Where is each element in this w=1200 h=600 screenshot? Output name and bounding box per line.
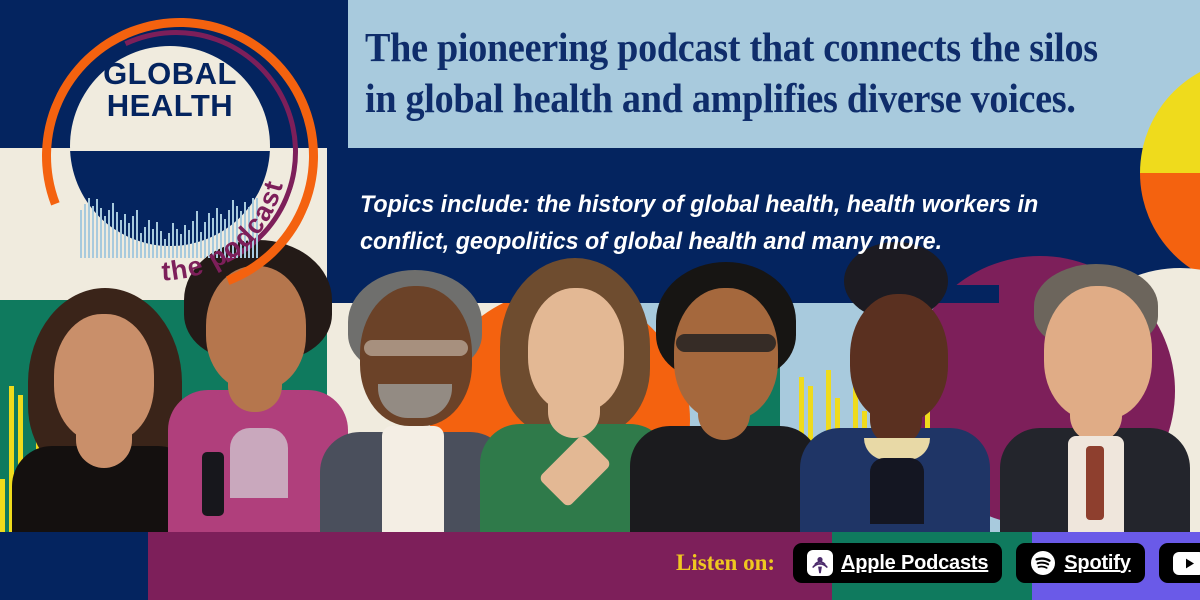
headline-text: The pioneering podcast that connects the… — [365, 22, 1118, 125]
spotify-icon — [1030, 550, 1056, 576]
host-portrait-7 — [1000, 260, 1190, 532]
bottom-bar-navy-segment — [0, 532, 148, 600]
host-portrait-5 — [630, 260, 820, 532]
podcast-logo: GLOBAL HEALTH MATTERS the podcast — [36, 12, 306, 288]
apple-podcasts-button[interactable]: Apple Podcasts — [793, 543, 1002, 583]
logo-tagline-curved: the podcast — [36, 12, 306, 288]
global-health-matters-podcast-banner: GLOBAL HEALTH MATTERS the podcast The pi… — [0, 0, 1200, 600]
spotify-label: Spotify — [1064, 552, 1130, 575]
topics-text: Topics include: the history of global he… — [360, 186, 1097, 260]
apple-podcasts-label: Apple Podcasts — [841, 552, 988, 575]
listen-on-label: Listen on: — [676, 550, 775, 576]
youtube-button[interactable]: YouTube — [1159, 543, 1200, 583]
svg-text:the podcast: the podcast — [161, 177, 289, 287]
youtube-icon — [1173, 552, 1200, 575]
host-portrait-6 — [800, 242, 990, 532]
listen-on-row: Listen on: Apple Podcasts — [676, 543, 1200, 583]
apple-podcasts-icon — [807, 550, 833, 576]
spotify-button[interactable]: Spotify — [1016, 543, 1144, 583]
